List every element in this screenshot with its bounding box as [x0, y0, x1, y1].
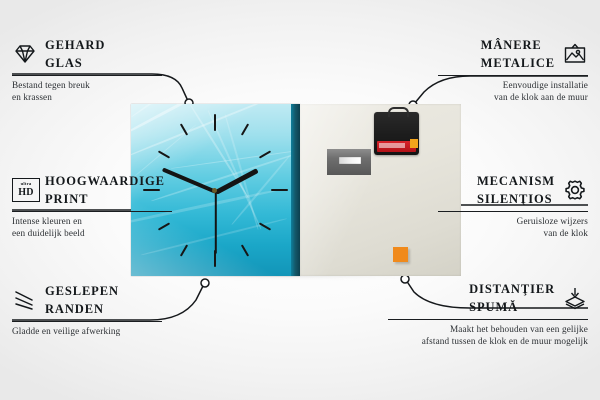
callout-rule — [388, 319, 588, 320]
callout-subtitle-line2: van de klok — [438, 228, 588, 240]
gear-icon — [562, 178, 588, 202]
tick-10 — [158, 150, 170, 158]
callout-title-line1: GEHARD — [45, 38, 105, 52]
callout-title-line2: RANDEN — [45, 302, 104, 316]
clock-center-pin — [212, 188, 217, 193]
diamond-icon — [12, 42, 38, 66]
callout-subtitle-line2: van de klok aan de muur — [438, 92, 588, 104]
callout-mecanism-silentios: MECANISM SILENŢIOS Geruisloze wijzers va… — [438, 172, 588, 239]
callout-hoogwaardige-print: ultra HD HOOGWAARDIGE PRINT Intense kleu… — [12, 172, 172, 239]
callout-rule — [438, 211, 588, 212]
infographic-canvas: GEHARD GLAS Bestand tegen breuk en krass… — [0, 0, 600, 400]
callout-title-line2: SILENŢIOS — [477, 192, 553, 206]
battery-plus-terminal — [410, 139, 418, 148]
callout-subtitle-line1: Gladde en veilige afwerking — [12, 326, 162, 338]
callout-subtitle-line1: Intense kleuren en — [12, 216, 172, 228]
tick-4 — [259, 222, 271, 230]
callout-title-line2: PRINT — [45, 192, 88, 206]
tick-1 — [241, 123, 249, 135]
foam-spacer — [393, 247, 408, 262]
glass-edge — [291, 104, 300, 276]
diagonal-lines-icon — [12, 288, 38, 312]
hour-hand — [215, 168, 259, 194]
battery-label — [379, 143, 405, 148]
clock-movement — [374, 112, 419, 155]
metal-hanger — [327, 149, 371, 175]
callout-title-line1: GESLEPEN — [45, 284, 119, 298]
callout-rule — [438, 75, 588, 76]
callout-rule — [12, 321, 162, 322]
tick-2 — [259, 150, 271, 158]
callout-distantier-spuma: DISTANŢIER SPUMĂ Maakt het behouden van … — [388, 280, 588, 347]
ultra-hd-icon: ultra HD — [12, 178, 38, 202]
callout-subtitle-line1: Eenvoudige installatie — [438, 80, 588, 92]
callout-title-line1: DISTANŢIER — [469, 282, 555, 296]
movement-loop — [388, 107, 409, 117]
callout-title-line1: MECANISM — [477, 174, 555, 188]
hanger-slot — [339, 157, 361, 164]
tick-11 — [180, 123, 188, 135]
callout-title-line1: MÂNERE — [481, 38, 542, 52]
callout-title-line2: METALICE — [481, 56, 555, 70]
callout-manere-metalice: MÂNERE METALICE Eenvoudige installatie v… — [438, 36, 588, 103]
product-image — [131, 104, 461, 276]
callout-rule — [12, 211, 172, 212]
spacer-down-arrow-icon — [562, 286, 588, 310]
callout-subtitle-line1: Bestand tegen breuk — [12, 80, 162, 92]
battery — [377, 141, 416, 152]
callout-title-line1: HOOGWAARDIGE — [45, 174, 165, 188]
picture-frame-icon — [562, 42, 588, 66]
callout-subtitle-line1: Geruisloze wijzers — [438, 216, 588, 228]
callout-subtitle-line2: en krassen — [12, 92, 162, 104]
callout-title-line2: SPUMĂ — [469, 300, 518, 314]
callout-geslepen-randen: GESLEPEN RANDEN Gladde en veilige afwerk… — [12, 282, 162, 338]
callout-title-line2: GLAS — [45, 56, 83, 70]
callout-subtitle-line2: een duidelijk beeld — [12, 228, 172, 240]
tick-12 — [214, 114, 216, 131]
callout-rule — [12, 75, 162, 76]
callout-gehard-glas: GEHARD GLAS Bestand tegen breuk en krass… — [12, 36, 162, 103]
callout-subtitle-line2: afstand tussen de klok en de muur mogeli… — [388, 336, 588, 348]
tick-5 — [241, 244, 249, 256]
second-hand — [215, 192, 217, 254]
tick-3 — [271, 189, 288, 191]
ultra-hd-large-text: HD — [18, 188, 33, 198]
tick-7 — [180, 244, 188, 256]
callout-subtitle-line1: Maakt het behouden van een gelijke — [388, 324, 588, 336]
